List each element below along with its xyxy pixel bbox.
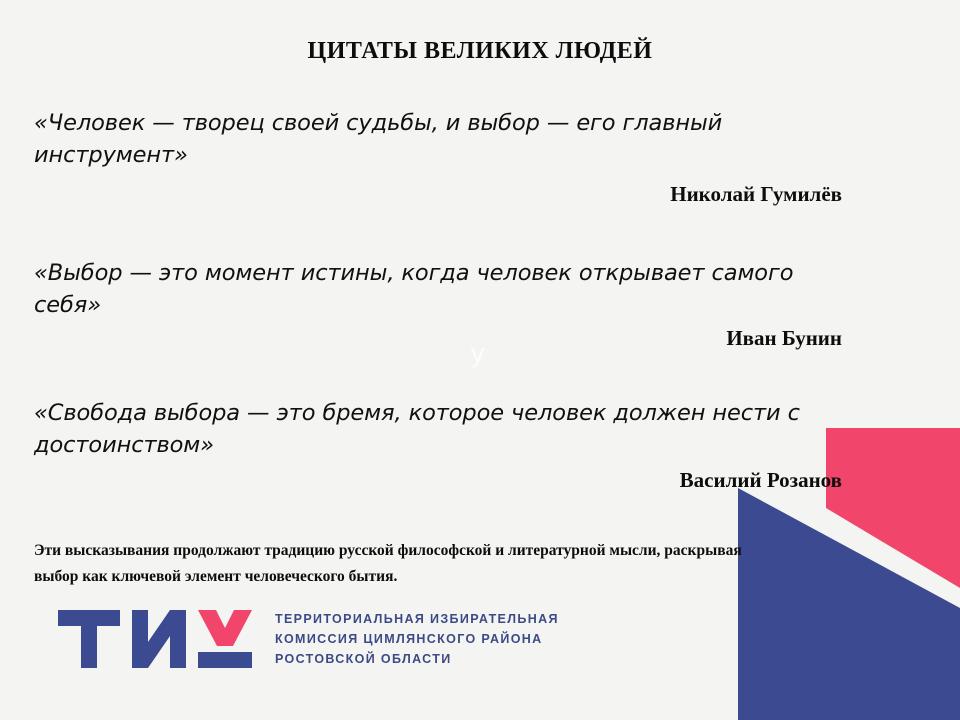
quote-block: «Человек — творец своей судьбы, и выбор … [34, 108, 864, 207]
logo-text-line-2: КОМИССИЯ ЦИМЛЯНСКОГО РАЙОНА [275, 629, 559, 649]
quote-text: «Свобода выбора — это бремя, которое чел… [34, 398, 864, 462]
quote-author: Василий Розанов [34, 468, 864, 493]
navy-diagonal-band [738, 488, 960, 720]
quote-text: «Человек — творец своей судьбы, и выбор … [34, 108, 864, 172]
quote-block: «Свобода выбора — это бремя, которое чел… [34, 398, 864, 493]
logo-text-line-3: РОСТОВСКОЙ ОБЛАСТИ [275, 649, 559, 669]
quote-block: «Выбор — это момент истины, когда челове… [34, 258, 864, 351]
tik-logo-icon [58, 608, 253, 670]
slide: ЦИТАТЫ ВЕЛИКИХ ЛЮДЕЙ «Человек — творец с… [0, 0, 960, 720]
organization-logo: ТЕРРИТОРИАЛЬНАЯ ИЗБИРАТЕЛЬНАЯ КОМИССИЯ Ц… [58, 608, 559, 670]
footer-note: Эти высказывания продолжают традицию рус… [34, 538, 746, 589]
watermark-letter: у [470, 339, 485, 369]
logo-text-block: ТЕРРИТОРИАЛЬНАЯ ИЗБИРАТЕЛЬНАЯ КОМИССИЯ Ц… [275, 609, 559, 670]
quote-author: Иван Бунин [34, 326, 864, 351]
quote-text: «Выбор — это момент истины, когда челове… [34, 258, 864, 322]
quote-author: Николай Гумилёв [34, 182, 864, 207]
page-title: ЦИТАТЫ ВЕЛИКИХ ЛЮДЕЙ [0, 38, 960, 65]
logo-text-line-1: ТЕРРИТОРИАЛЬНАЯ ИЗБИРАТЕЛЬНАЯ [275, 609, 559, 629]
